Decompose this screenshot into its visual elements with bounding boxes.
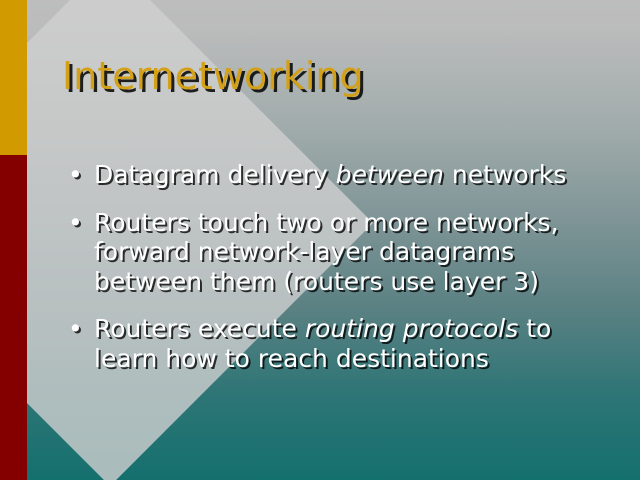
slide-title: Internetworking xyxy=(62,56,364,98)
bullet-glyph-icon: • xyxy=(68,208,83,238)
bullet-text-1: Datagram delivery between networks xyxy=(94,160,566,189)
bullet-item-1: • Datagram delivery between networks xyxy=(62,160,582,190)
bullet-glyph-icon: • xyxy=(68,160,83,190)
bullet-item-3: • Routers execute routing protocols to l… xyxy=(62,314,582,373)
slide-content: Internetworking • Datagram delivery betw… xyxy=(0,0,640,480)
bullet-glyph-icon: • xyxy=(68,314,83,344)
presentation-slide: Internetworking • Datagram delivery betw… xyxy=(0,0,640,480)
bullet-text-2: Routers touch two or more networks, forw… xyxy=(94,208,566,296)
bullet-list: • Datagram delivery between networks • R… xyxy=(62,160,582,391)
bullet-item-2: • Routers touch two or more networks, fo… xyxy=(62,208,582,297)
bullet-text-3: Routers execute routing protocols to lea… xyxy=(94,314,559,373)
